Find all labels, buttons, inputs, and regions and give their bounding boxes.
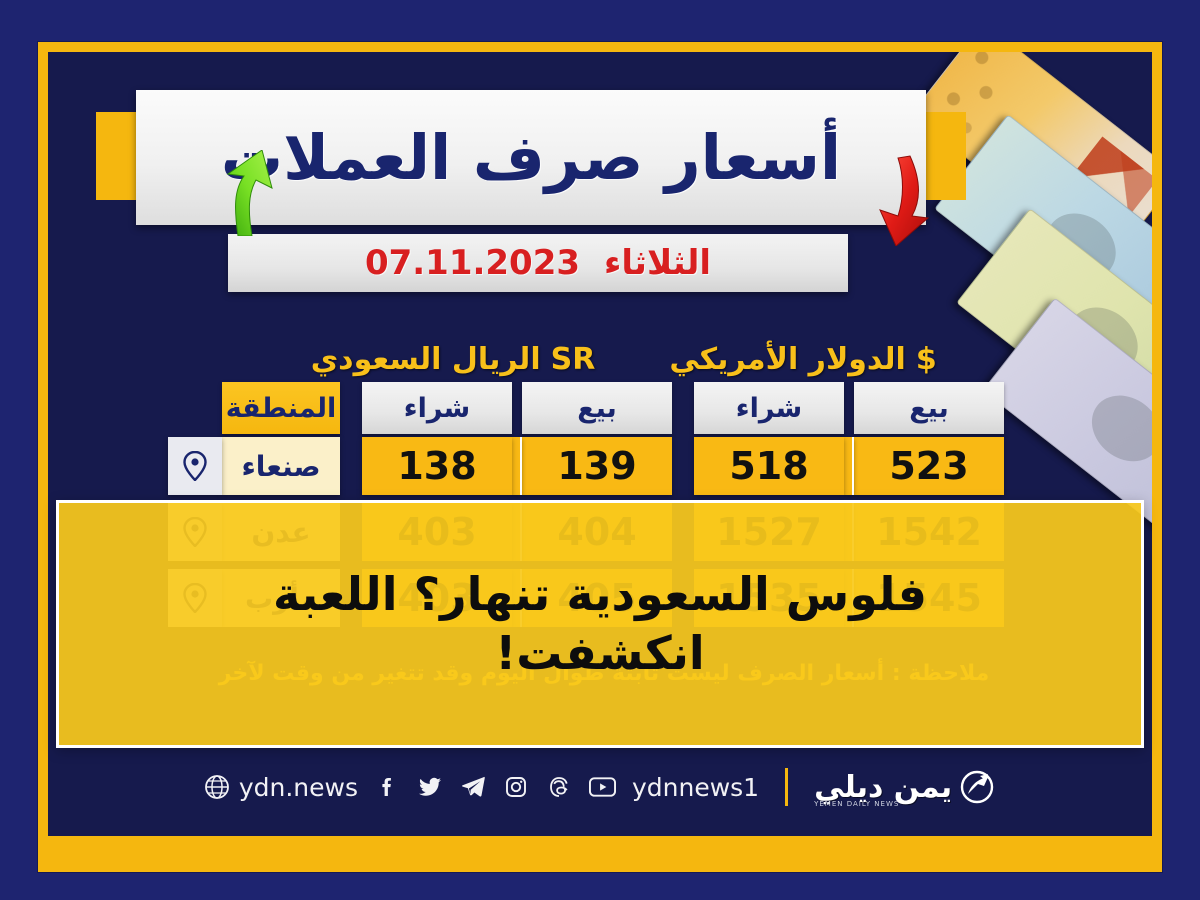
brand-subtitle: YEMEN DAILY NEWS — [814, 800, 899, 808]
cell-usd-buy: 518 — [694, 437, 844, 495]
youtube-icon[interactable] — [589, 774, 616, 801]
table-row: 523 518 139 138 صنعاء — [84, 437, 1004, 495]
banknote-watermark — [1056, 294, 1151, 387]
currency-symbol-sar: SR — [551, 342, 596, 377]
instagram-icon[interactable] — [503, 774, 530, 801]
banknote-watermark — [1034, 200, 1129, 293]
date-value: 07.11.2023 — [365, 243, 580, 283]
currency-name-sar: الريال السعودي — [311, 342, 541, 377]
currency-headings: $ الدولار الأمريكي SR الريال السعودي — [108, 334, 988, 384]
cell-sar-sell: 139 — [522, 437, 672, 495]
row-group-gap — [672, 437, 694, 495]
date-band: الثلاثاء 07.11.2023 — [228, 234, 848, 292]
header-sar-buy: شراء — [362, 382, 512, 434]
social-icons — [374, 774, 616, 801]
banknote-blue — [934, 114, 1152, 366]
bottom-gold-bar — [48, 836, 1152, 862]
headline-text: فلوس السعودية تنهار؟ اللعبة انكشفت! — [150, 565, 1050, 683]
globe-icon — [204, 774, 230, 800]
currency-heading-usd: $ الدولار الأمريكي — [618, 334, 988, 384]
header-spacer — [844, 382, 854, 434]
cell-region-name: صنعاء — [222, 437, 340, 495]
header-usd-sell: بيع — [854, 382, 1004, 434]
row-group-gap — [340, 437, 362, 495]
currency-heading-sar: SR الريال السعودي — [288, 334, 618, 384]
brand-logo: يمن ديلي YEMEN DAILY NEWS — [814, 768, 996, 806]
header-region: المنطقة — [222, 382, 340, 434]
table-header-row: بيع شراء بيع شراء المنطقة — [84, 382, 1004, 434]
currency-heading-spacer — [108, 334, 288, 384]
date-day: الثلاثاء — [604, 243, 711, 283]
currency-symbol-usd: $ — [916, 342, 937, 377]
header-pin-gap — [168, 382, 222, 434]
header-usd-buy: شراء — [694, 382, 844, 434]
cell-divider — [512, 437, 522, 495]
arrow-up-icon — [218, 150, 280, 240]
header-spacer — [512, 382, 522, 434]
location-pin-icon — [168, 437, 222, 495]
cell-divider — [844, 437, 854, 495]
banknote-watermark — [1079, 382, 1152, 475]
headline-overlay: فلوس السعودية تنهار؟ اللعبة انكشفت! — [56, 500, 1144, 748]
cell-sar-buy: 138 — [362, 437, 512, 495]
cell-usd-sell: 523 — [854, 437, 1004, 495]
page-title: أسعار صرف العملات — [221, 121, 841, 194]
currency-name-usd: الدولار الأمريكي — [669, 342, 906, 377]
arrow-down-icon — [876, 154, 932, 250]
telegram-icon[interactable] — [460, 774, 487, 801]
website-link[interactable]: ydn.news — [204, 773, 358, 802]
threads-icon[interactable] — [546, 774, 573, 801]
banknote-figure — [1074, 137, 1152, 216]
twitter-icon[interactable] — [417, 774, 444, 801]
header-sar-sell: بيع — [522, 382, 672, 434]
footer: ydn.news — [48, 754, 1152, 820]
handle-label: ydnnews1 — [632, 773, 759, 802]
social-handle[interactable]: ydnnews1 — [632, 773, 759, 802]
footer-divider — [785, 768, 788, 806]
facebook-icon[interactable] — [374, 774, 401, 801]
header-group-gap — [672, 382, 694, 434]
header-group-gap — [340, 382, 362, 434]
brand-mark-icon — [958, 768, 996, 806]
website-label: ydn.news — [239, 773, 358, 802]
